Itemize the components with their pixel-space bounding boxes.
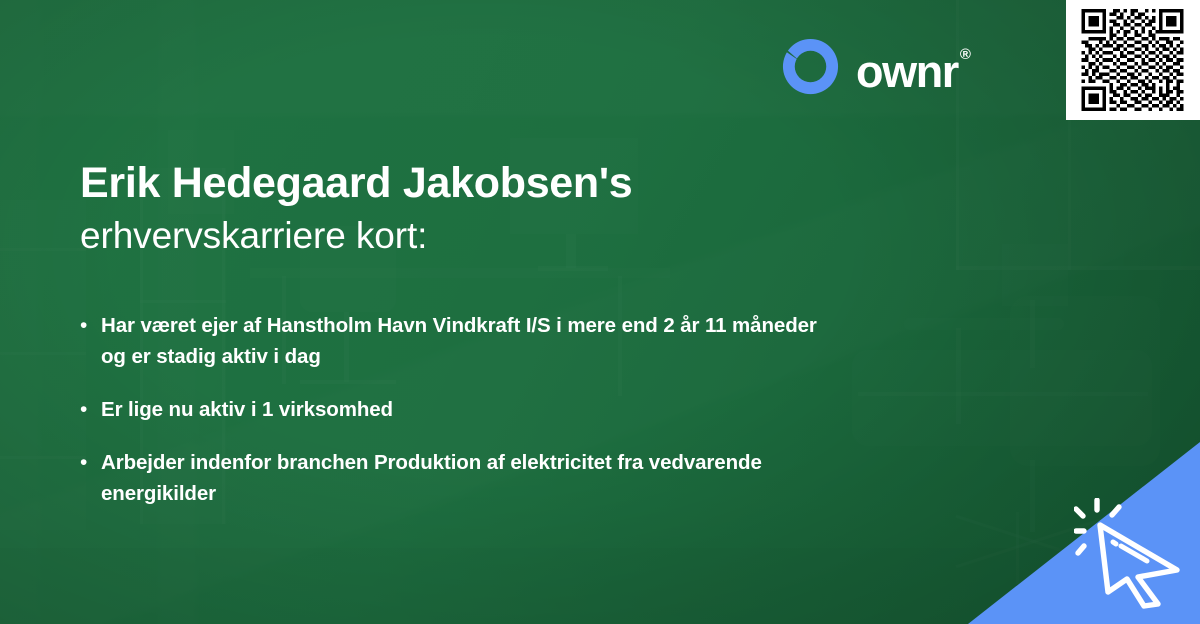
list-item-label: Er lige nu aktiv i 1 virksomhed bbox=[101, 394, 393, 425]
page-title-line2: erhvervskarriere kort: bbox=[80, 212, 800, 260]
career-facts-list: • Har været ejer af Hanstholm Havn Vindk… bbox=[80, 310, 870, 531]
ownr-wordmark: ownr® bbox=[856, 44, 969, 94]
card-content: Erik Hedegaard Jakobsen's erhvervskarrie… bbox=[0, 0, 1200, 624]
bullet-icon: • bbox=[80, 394, 101, 425]
ownr-circular-mark-icon bbox=[779, 35, 842, 98]
list-item: • Arbejder indenfor branchen Produktion … bbox=[80, 447, 870, 509]
corner-badge bbox=[968, 442, 1200, 624]
bullet-icon: • bbox=[80, 310, 101, 372]
list-item-label: Har været ejer af Hanstholm Havn Vindkra… bbox=[101, 310, 825, 372]
registered-trademark-icon: ® bbox=[960, 46, 971, 63]
page-title-line1: Erik Hedegaard Jakobsen's bbox=[80, 158, 800, 208]
list-item-label: Arbejder indenfor branchen Produktion af… bbox=[101, 447, 825, 509]
qr-code-panel[interactable] bbox=[1066, 0, 1200, 120]
qr-code-icon bbox=[1075, 9, 1190, 111]
bullet-icon: • bbox=[80, 447, 101, 509]
page-title: Erik Hedegaard Jakobsen's erhvervskarrie… bbox=[80, 158, 800, 260]
list-item: • Har været ejer af Hanstholm Havn Vindk… bbox=[80, 310, 870, 372]
ownr-logo[interactable]: ownr® bbox=[779, 35, 969, 98]
ownr-wordmark-text: ownr bbox=[856, 46, 958, 97]
click-cursor-icon bbox=[1074, 498, 1184, 610]
list-item: • Er lige nu aktiv i 1 virksomhed bbox=[80, 394, 870, 425]
